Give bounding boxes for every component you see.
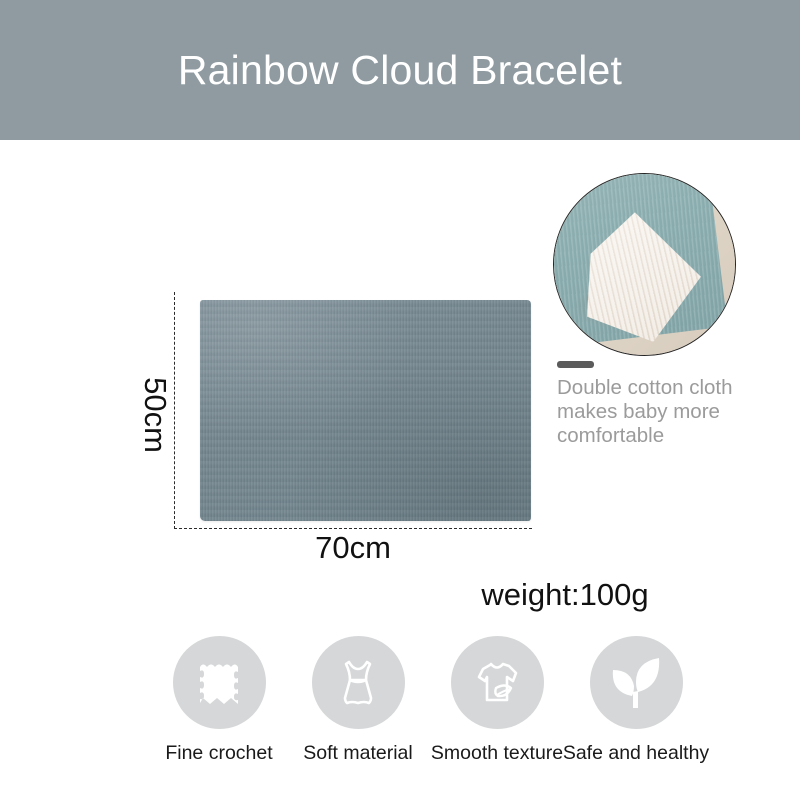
dimension-line-vertical [174,292,175,529]
page-title: Rainbow Cloud Bracelet [0,0,800,140]
feature-item-safe-healthy: Safe and healthy [572,636,700,765]
dimension-line-horizontal [174,528,532,529]
product-blanket-image [200,300,531,521]
tshirt-leaf-icon [468,654,526,712]
sprout-leaves-icon [605,652,667,714]
detail-photo-circle [553,173,736,356]
feature-icon-circle [590,636,683,729]
detail-accent-bar [557,361,594,368]
feature-icon-circle [173,636,266,729]
detail-caption: Double cotton cloth makes baby more comf… [557,376,772,448]
feature-icon-circle [451,636,544,729]
feature-item-soft-material: Soft material [294,636,422,765]
product-infographic: Rainbow Cloud Bracelet 50cm 70cm weight:… [0,0,800,800]
feature-label: Soft material [303,742,412,765]
feature-item-smooth-texture: Smooth texture [433,636,561,765]
weight-label: weight:100g [481,577,648,613]
dress-garment-icon [329,654,387,712]
header-banner: Rainbow Cloud Bracelet [0,0,800,140]
feature-icon-circle [312,636,405,729]
feature-label: Fine crochet [165,742,272,765]
feature-label: Smooth texture [431,742,563,765]
feature-item-fine-crochet: Fine crochet [155,636,283,765]
crochet-fabric-icon [190,654,248,712]
features-row: Fine crochet Soft material [155,636,700,771]
width-dimension-label: 70cm [315,530,391,566]
height-dimension-label: 50cm [137,377,173,453]
feature-label: Safe and healthy [563,742,709,765]
